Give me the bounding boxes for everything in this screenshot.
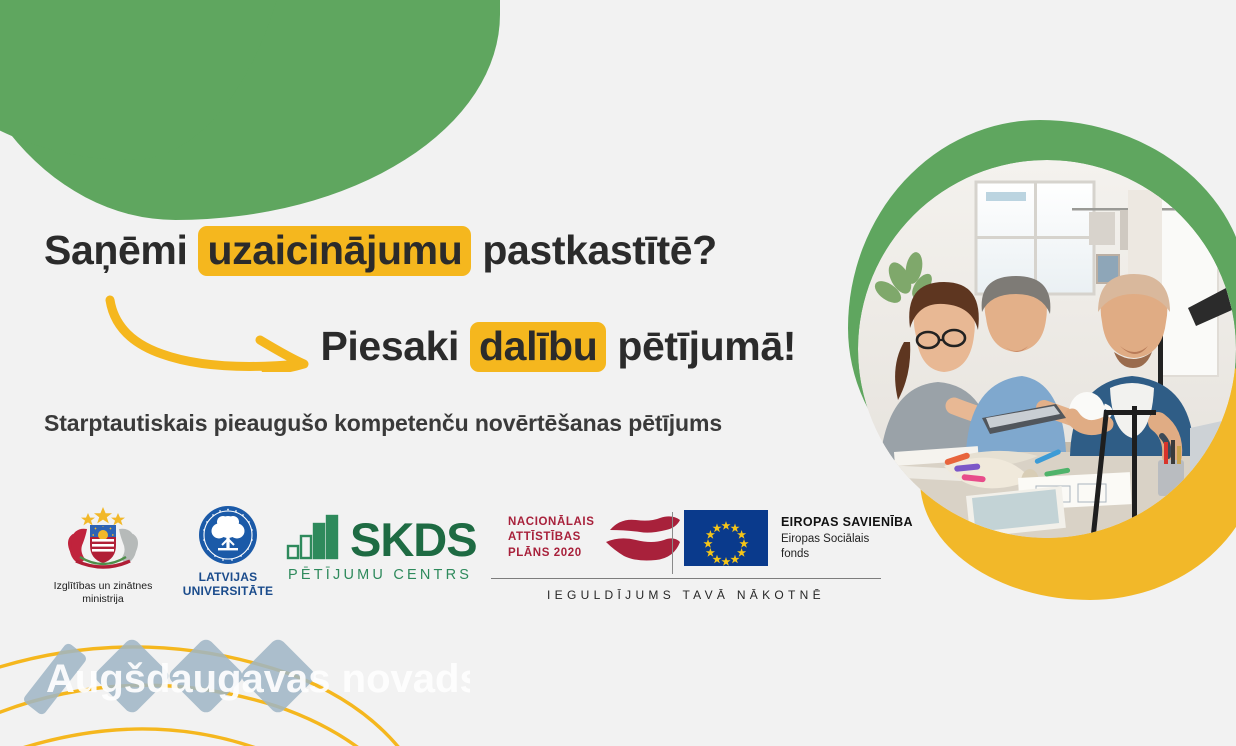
ministry-caption: Izglītības un zinātnes ministrija [38,580,168,606]
latvia-map-icon [604,512,682,564]
ministry-caption-line1: Izglītības un zinātnes [38,580,168,593]
eu-title: EIROPAS SAVIENĪBA [781,515,913,529]
logo-ministry-of-education: Izglītības un zinātnes ministrija [38,505,168,606]
logo-university-of-latvia: LATVIJAS UNIVERSITĀTE [182,505,274,598]
university-of-latvia-seal-icon [198,505,258,565]
eu-subtitle-line1: Eiropas Sociālais [781,532,913,547]
nap-line3: PLĀNS 2020 [508,546,594,562]
university-caption-line2: UNIVERSITĀTE [182,584,274,598]
watermark-text: Augšdaugavas novads [46,657,470,701]
headline-line-1-before: Saņēmi [44,227,187,273]
nap-line1: NACIONĀLAIS [508,515,594,531]
team-photo [858,160,1236,538]
logo-european-union: EIROPAS SAVIENĪBA Eiropas Sociālais fond… [684,510,913,566]
nap-text: NACIONĀLAIS ATTĪSTĪBAS PLĀNS 2020 [508,515,594,562]
green-blob-behind-photo [848,120,1236,520]
latvian-coat-of-arms-icon [60,505,146,571]
subtitle: Starptautiskais pieaugušo kompetenču nov… [44,410,844,437]
headline-line-1-highlight: uzaicinājumu [198,226,471,276]
logo-national-development-plan: NACIONĀLAIS ATTĪSTĪBAS PLĀNS 2020 [508,512,688,564]
tagline-block: IEGULDĪJUMS TAVĀ NĀKOTNĒ [491,578,891,602]
eu-subtitle: Eiropas Sociālais fonds [781,532,913,562]
eu-subtitle-line2: fonds [781,547,913,562]
skds-subtitle: PĒTĪJUMU CENTRS [286,567,494,583]
green-blob-top-left-secondary [0,0,300,160]
university-caption-line1: LATVIJAS [182,570,274,584]
green-blob-top-left [0,0,500,220]
headline-line-2: Piesaki dalību pētījumā! [44,324,844,370]
nap-line2: ATTĪSTĪBAS [508,530,594,546]
headline-line-2-after: pētījumā! [617,323,796,369]
skds-wordmark: SKDS [350,520,477,560]
watermark-augsdaugavas-novads: Augšdaugavas novads [0,620,470,746]
headline-block: Saņēmi uzaicinājumu pastkastītē? Piesaki… [44,228,844,437]
poster-canvas: Augšdaugavas novads Saņēmi uzaicinājumu … [0,0,1236,746]
headline-line-1: Saņēmi uzaicinājumu pastkastītē? [44,228,844,274]
university-caption: LATVIJAS UNIVERSITĀTE [182,570,274,598]
tagline-rule [491,578,881,579]
logo-skds: SKDS PĒTĪJUMU CENTRS [286,514,494,583]
european-union-flag-icon [684,510,768,566]
tagline-text: IEGULDĪJUMS TAVĀ NĀKOTNĒ [491,588,881,602]
ministry-caption-line2: ministrija [38,593,168,606]
bar-chart-icon [286,514,342,560]
logo-divider [672,512,673,574]
headline-line-2-highlight: dalību [470,322,606,372]
yellow-blob-behind-photo [920,300,1236,600]
headline-line-2-before: Piesaki [320,323,459,369]
headline-line-1-after: pastkastītē? [482,227,716,273]
